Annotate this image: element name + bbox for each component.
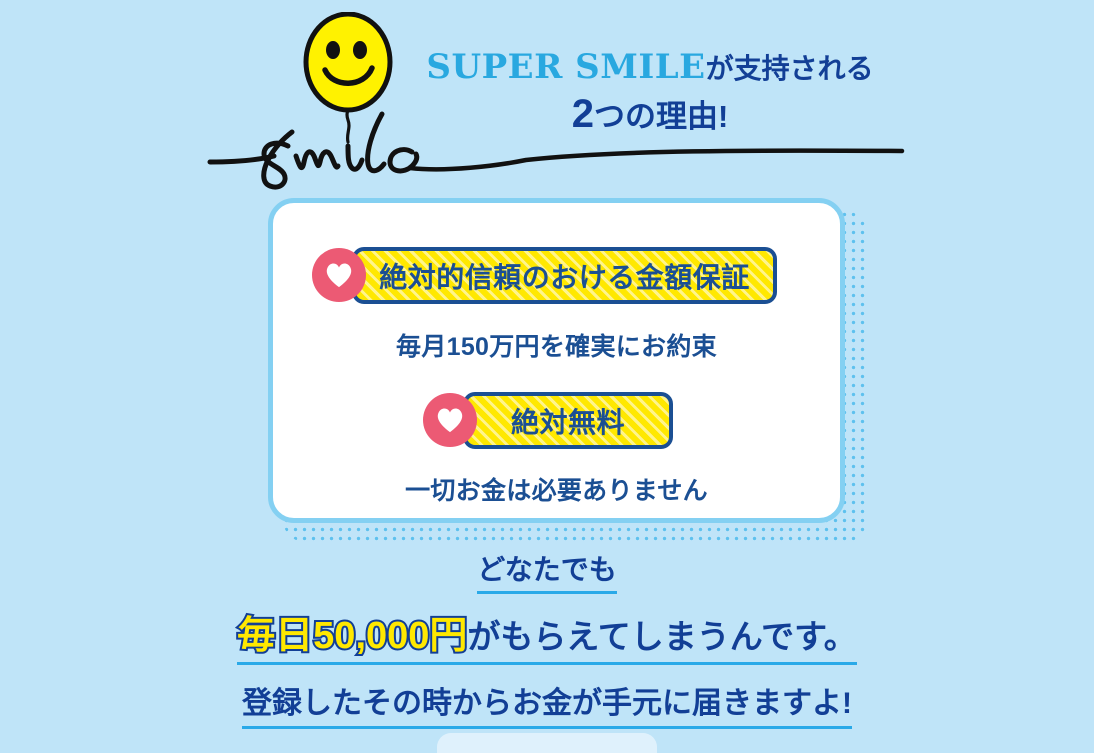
benefit-badge-1-bar: 絶対的信頼のおける金額保証 <box>352 247 777 304</box>
bottom-line-1: どなたでも <box>0 556 1094 594</box>
header-section: SUPER SMILEが支持される 2つの理由! <box>0 0 1094 195</box>
bottom-line-1-text: どなたでも <box>477 556 616 594</box>
benefit-badge-2-label: 絶対無料 <box>511 401 625 441</box>
benefits-card: 絶対的信頼のおける金額保証 毎月150万円を確実にお約束 絶対無料 一切お金は必… <box>268 198 845 523</box>
next-section-peek <box>437 733 657 753</box>
headline-line-1: SUPER SMILEが支持される <box>390 48 910 86</box>
bottom-line-3: 登録したその時からお金が手元に届きますよ! <box>0 689 1094 729</box>
bottom-line-2-wrap: 毎日50,000円がもらえてしまうんです。 <box>237 617 857 665</box>
bottom-line-2-rest: がもらえてしまうんです。 <box>467 618 856 655</box>
bottom-section: どなたでも 毎日50,000円がもらえてしまうんです。 登録したその時からお金が… <box>0 556 1094 729</box>
smile-script-icon <box>196 100 916 190</box>
benefit-note-2: 一切お金は必要ありません <box>273 471 840 507</box>
benefit-badge-2-bar: 絶対無料 <box>463 392 673 449</box>
headline-suffix: が支持される <box>706 53 874 84</box>
benefit-badge-2: 絶対無料 <box>423 392 673 449</box>
daily-amount: 毎日50,000円 <box>237 615 467 657</box>
benefits-card-zone: 絶対的信頼のおける金額保証 毎月150万円を確実にお約束 絶対無料 一切お金は必… <box>268 198 868 543</box>
heart-icon <box>312 248 366 302</box>
benefit-note-1: 毎月150万円を確実にお約束 <box>273 327 840 363</box>
heart-icon <box>423 393 477 447</box>
bottom-line-3-text: 登録したその時からお金が手元に届きますよ! <box>242 689 852 729</box>
brand-name: SUPER SMILE <box>426 47 705 87</box>
benefit-badge-1: 絶対的信頼のおける金額保証 <box>312 247 777 304</box>
promo-page: SUPER SMILEが支持される 2つの理由! <box>0 0 1094 738</box>
bottom-line-2: 毎日50,000円がもらえてしまうんです。 <box>0 617 1094 665</box>
benefit-badge-1-label: 絶対的信頼のおける金額保証 <box>379 256 750 296</box>
